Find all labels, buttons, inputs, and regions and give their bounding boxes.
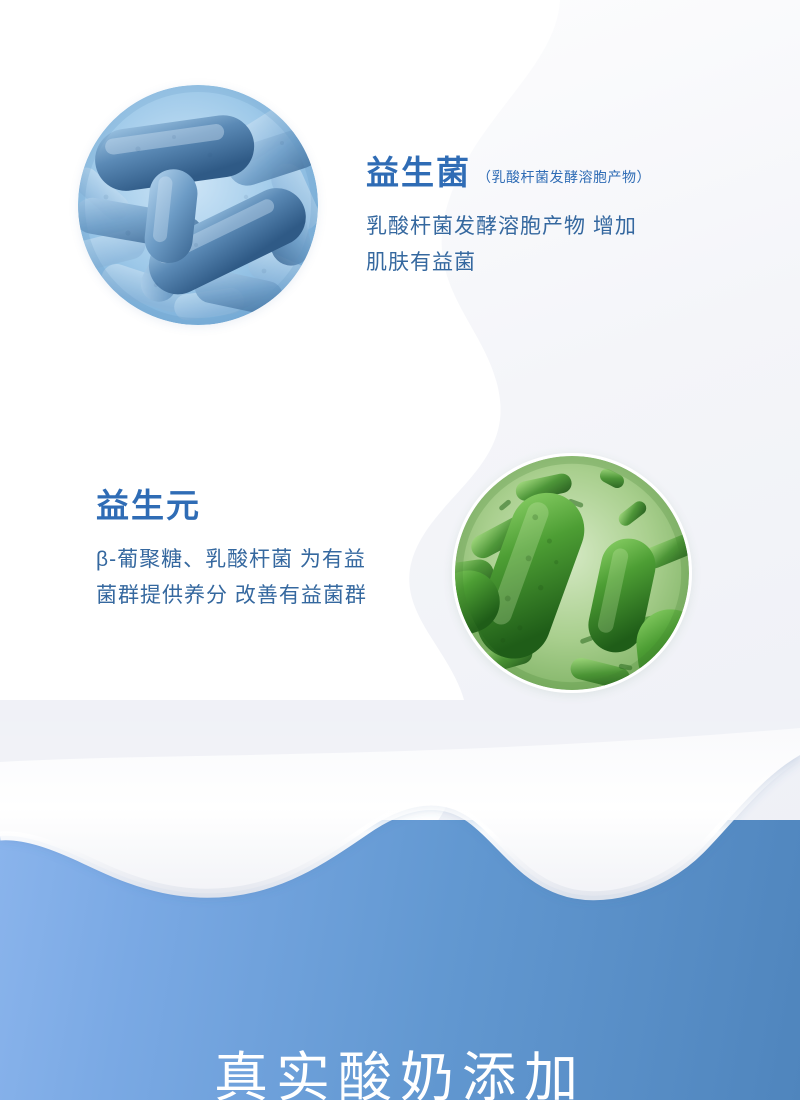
promo-page: 益生菌 （乳酸杆菌发酵溶胞产物） 乳酸杆菌发酵溶胞产物 增加 肌肤有益菌 益生元… xyxy=(0,0,800,1100)
probiotic-heading: 益生菌 xyxy=(366,155,471,191)
prebiotic-body-text: β-葡聚糖、乳酸杆菌 为有益 菌群提供养分 改善有益菌群 xyxy=(96,542,476,614)
probiotic-body-text: 乳酸杆菌发酵溶胞产物 增加 肌肤有益菌 xyxy=(366,209,766,281)
probiotic-bacteria-illustration xyxy=(78,85,318,325)
probiotic-heading-note: （乳酸杆菌发酵溶胞产物） xyxy=(477,167,651,191)
probiotic-text-block: 益生菌 （乳酸杆菌发酵溶胞产物） 乳酸杆菌发酵溶胞产物 增加 肌肤有益菌 xyxy=(366,155,766,281)
bottom-headline: 真实酸奶添加 xyxy=(0,1048,800,1100)
prebiotic-bacteria-photo xyxy=(452,453,692,693)
probiotic-heading-row: 益生菌 （乳酸杆菌发酵溶胞产物） xyxy=(366,155,766,191)
probiotic-bacteria-photo xyxy=(78,85,318,325)
prebiotic-heading-row: 益生元 xyxy=(96,488,476,524)
prebiotic-bacteria-illustration xyxy=(455,456,689,690)
prebiotic-text-block: 益生元 β-葡聚糖、乳酸杆菌 为有益 菌群提供养分 改善有益菌群 xyxy=(96,488,476,614)
milk-drip-shape xyxy=(0,700,800,1100)
prebiotic-heading: 益生元 xyxy=(96,488,201,524)
